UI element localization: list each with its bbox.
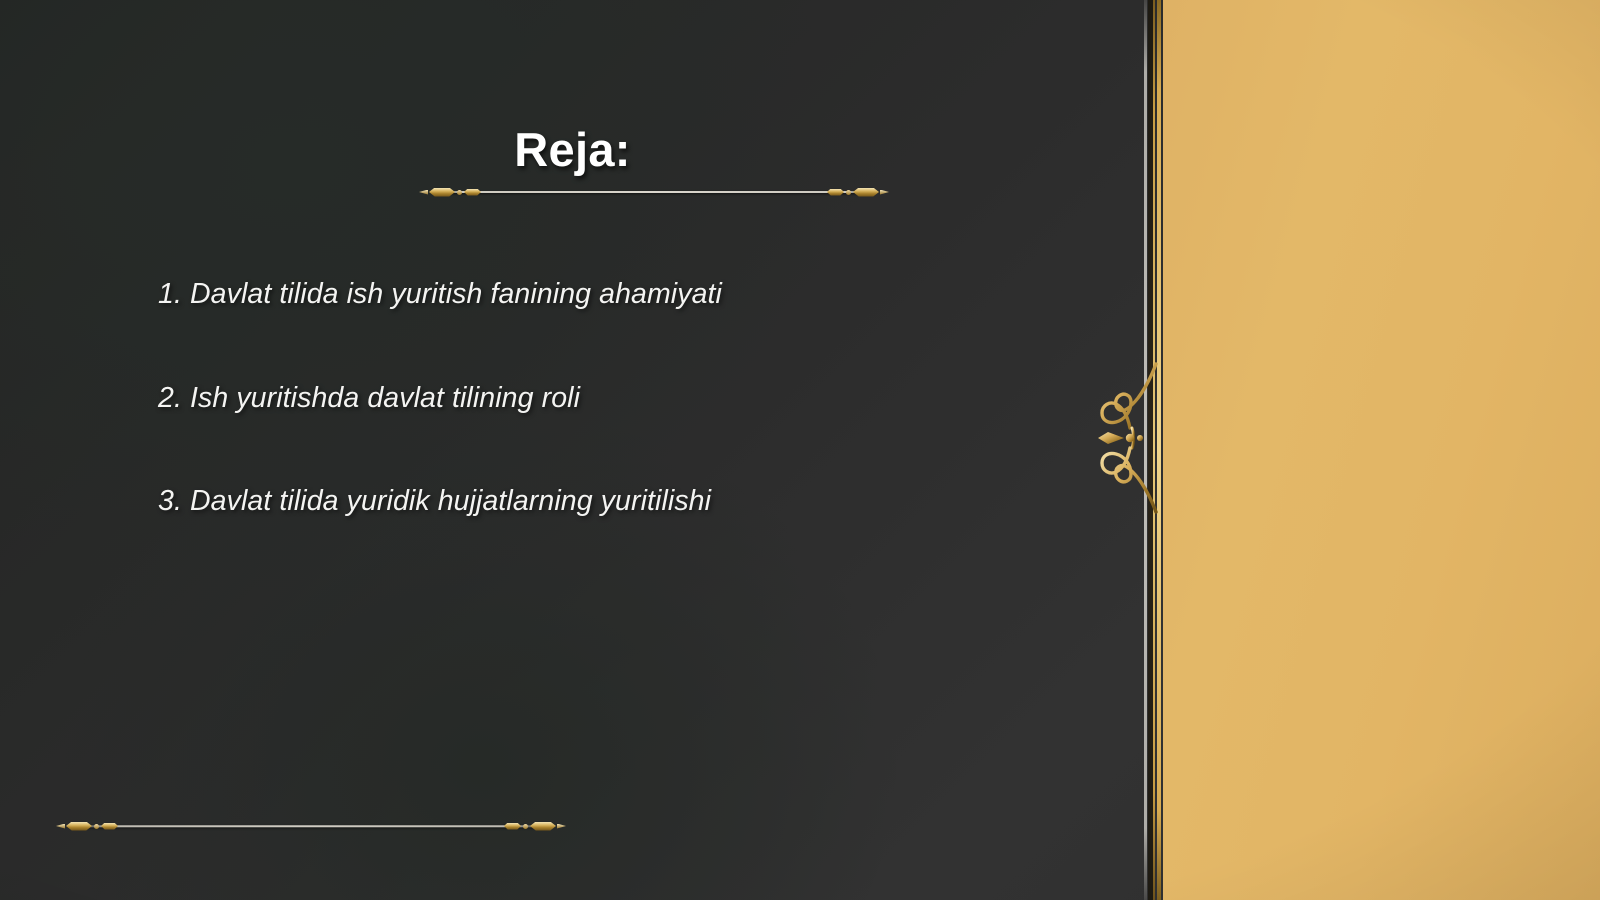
ornament-diamond-small-icon (464, 189, 481, 196)
slide-content-area: Reja: 1. Davlat tilida ish yuritish fani… (0, 0, 1145, 900)
title-block: Reja: (0, 126, 1145, 173)
ornament-tip-icon (880, 190, 889, 195)
title-divider-ornament (418, 184, 890, 200)
divider-right-ornament-icon (504, 820, 567, 832)
presentation-slide: Reja: 1. Davlat tilida ish yuritish fani… (0, 0, 1600, 900)
ornament-diamond-icon (429, 188, 455, 197)
divider-line (437, 191, 871, 193)
ornament-dot-icon (523, 824, 528, 829)
ornament-diamond-small-icon (827, 189, 844, 196)
list-item: 3. Davlat tilida yuridik hujjatlarning y… (158, 484, 1078, 520)
list-item: 2. Ish yuritishda davlat tilining roli (158, 381, 1078, 417)
border-rule-gold-thin (1153, 0, 1155, 900)
page-title: Reja: (514, 126, 630, 173)
ornament-diamond-small-icon (504, 823, 521, 830)
divider-right-ornament-icon (827, 186, 890, 198)
border-rule-gold-thick (1157, 0, 1161, 900)
ornament-tip-icon (557, 824, 566, 829)
panel-border-rules (1141, 0, 1165, 900)
border-rule-silver (1144, 0, 1147, 900)
ornament-tip-icon (56, 824, 65, 829)
ornament-diamond-small-icon (101, 823, 118, 830)
ornament-diamond-icon (66, 822, 92, 831)
divider-left-ornament-icon (418, 186, 481, 198)
bottom-divider-ornament (55, 819, 567, 833)
divider-line (81, 825, 542, 827)
gold-side-panel (1163, 0, 1600, 900)
ornament-diamond-icon (530, 822, 556, 831)
ornament-dot-icon (457, 190, 462, 195)
ornament-tip-icon (419, 190, 428, 195)
ornament-diamond-icon (853, 188, 879, 197)
agenda-list: 1. Davlat tilida ish yuritish fanining a… (158, 277, 1078, 520)
list-item: 1. Davlat tilida ish yuritish fanining a… (158, 277, 1078, 313)
ornament-dot-icon (94, 824, 99, 829)
divider-left-ornament-icon (55, 820, 118, 832)
ornament-dot-icon (846, 190, 851, 195)
